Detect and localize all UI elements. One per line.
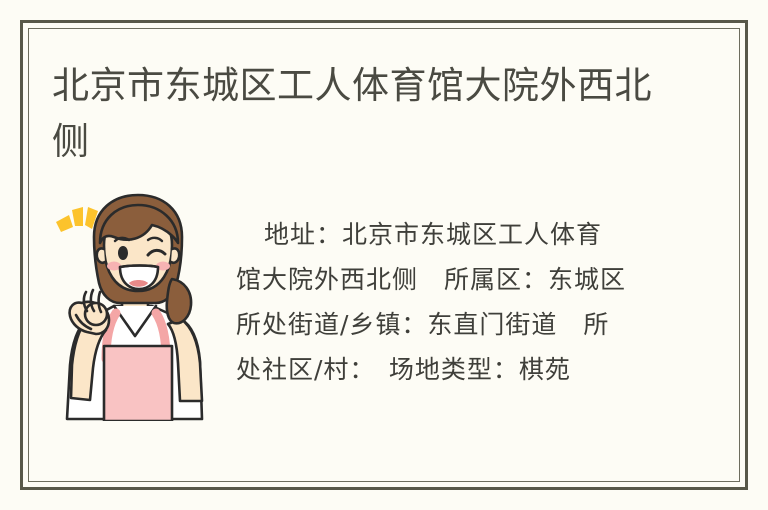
venue-details-text: 地址：北京市东城区工人体育馆大院外西北侧 所属区：东城区 所处街道/乡镇：东直门… [236, 212, 626, 392]
sparkle-icon [56, 207, 98, 232]
eye-open [118, 246, 128, 260]
venue-info-card: 北京市东城区工人体育馆大院外西北侧 [0, 0, 768, 510]
page-title: 北京市东城区工人体育馆大院外西北侧 [52, 58, 672, 170]
illustration-smiling-woman-ok-gesture [52, 193, 222, 421]
